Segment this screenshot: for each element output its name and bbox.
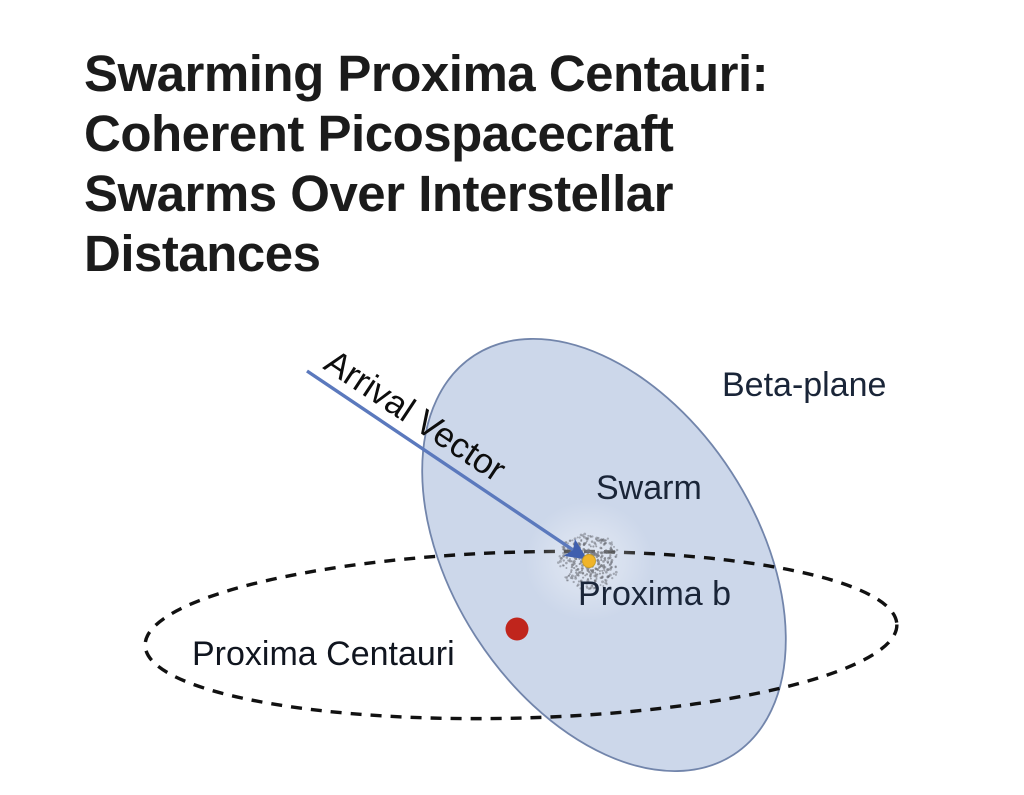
proxima-b-planet-marker (583, 555, 596, 568)
label-proxima-centauri: Proxima Centauri (192, 635, 455, 673)
diagram-figure: Arrival Vector Beta-plane Swarm Proxima … (0, 0, 1024, 795)
proxima-centauri-star-marker (506, 618, 529, 641)
label-beta-plane: Beta-plane (722, 366, 886, 404)
proxima-swarm-diagram: Arrival Vector Beta-plane Swarm Proxima … (0, 0, 1024, 795)
label-swarm: Swarm (596, 469, 702, 507)
label-proxima-b: Proxima b (578, 575, 731, 613)
figure-page: Swarming Proxima Centauri: Coherent Pico… (0, 0, 1024, 795)
